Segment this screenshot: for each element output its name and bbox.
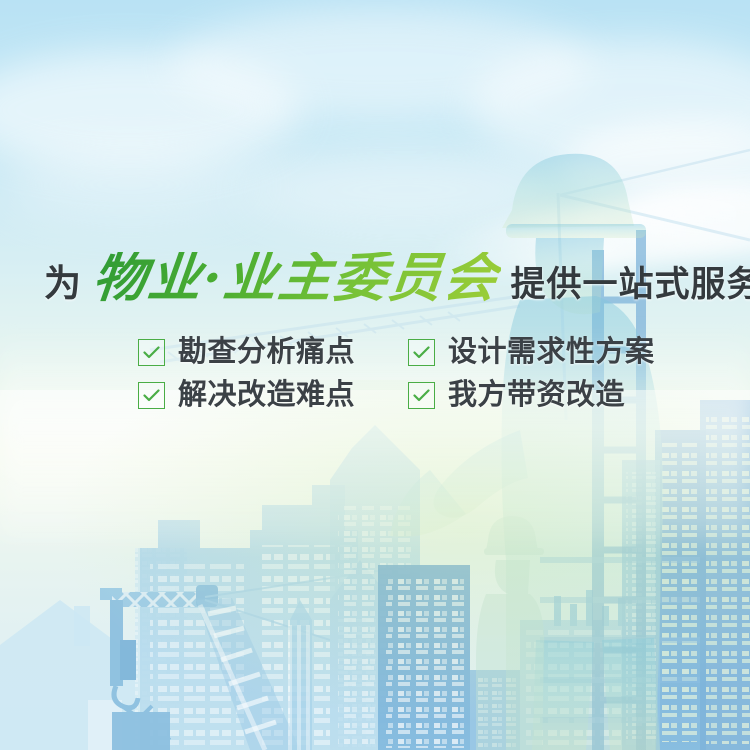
feature-label: 勘查分析痛点 [178, 338, 355, 367]
promo-banner: 为 物业·业主委员会 提供一站式服务 勘查分析痛点 设计需求性方 [0, 0, 750, 750]
feature-label: 我方带资改造 [448, 381, 625, 410]
feature-item: 我方带资改造 [408, 381, 678, 410]
feature-item: 勘查分析痛点 [138, 338, 408, 367]
checkbox-checked-icon [408, 339, 435, 366]
headline: 为 物业·业主委员会 提供一站式服务 [44, 252, 750, 305]
checkbox-checked-icon [138, 382, 165, 409]
checkbox-checked-icon [408, 382, 435, 409]
feature-item: 设计需求性方案 [408, 338, 678, 367]
feature-list: 勘查分析痛点 设计需求性方案 解决改造难点 [138, 338, 678, 410]
checkbox-checked-icon [138, 339, 165, 366]
headline-prefix: 为 [44, 265, 82, 302]
headline-script-emphasis: 物业·业主委员会 [88, 252, 503, 305]
banner-content: 为 物业·业主委员会 提供一站式服务 勘查分析痛点 设计需求性方 [0, 0, 750, 750]
feature-label: 解决改造难点 [178, 381, 355, 410]
headline-suffix: 提供一站式服务 [510, 267, 750, 302]
feature-item: 解决改造难点 [138, 381, 408, 410]
feature-label: 设计需求性方案 [448, 338, 655, 367]
